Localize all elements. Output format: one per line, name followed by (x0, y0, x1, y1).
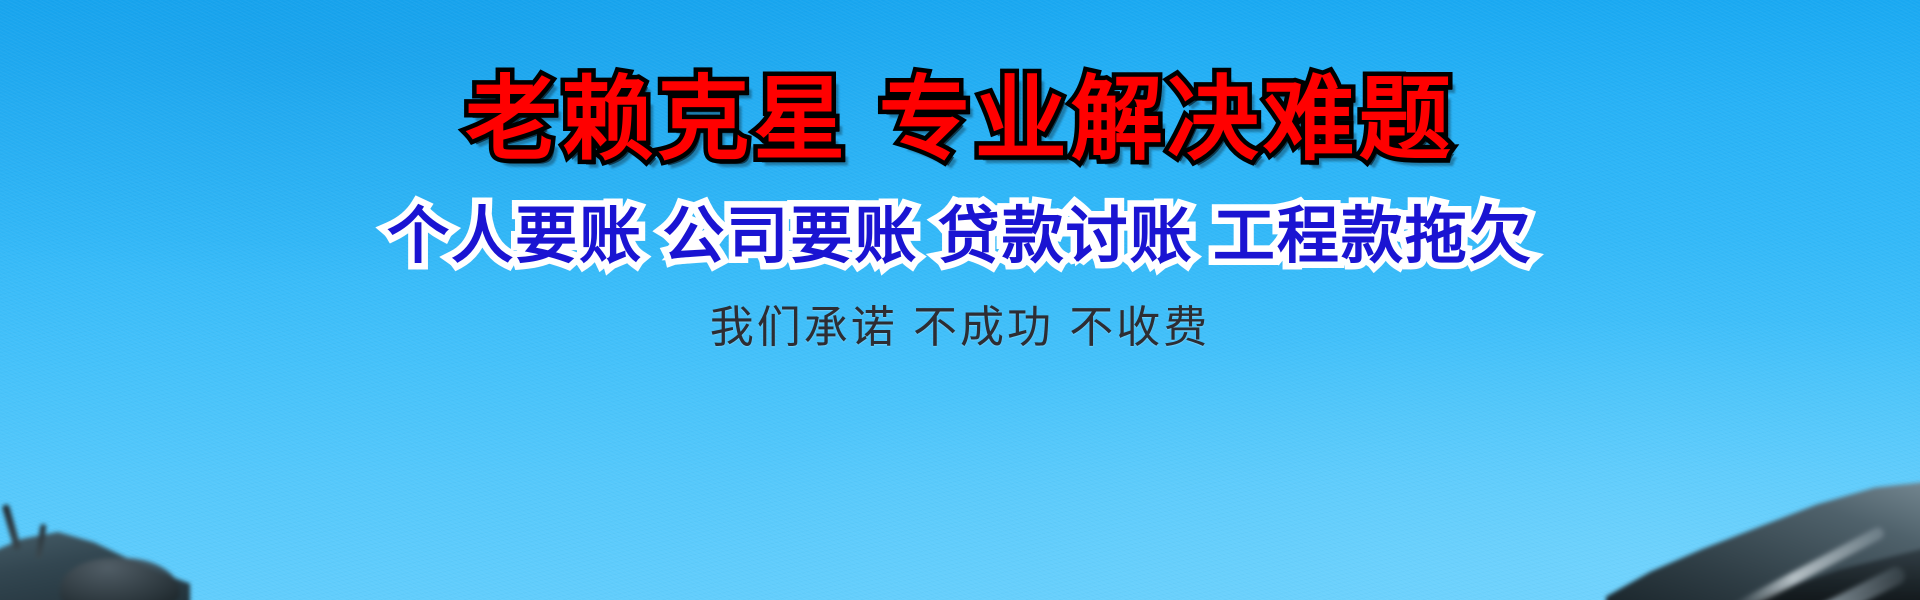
banner-services-line: 个人要账 公司要账 贷款讨账 工程款拖欠 (387, 206, 1533, 268)
banner-headline: 老赖克星 专业解决难题 (465, 74, 1455, 166)
banner-content: 老赖克星 专业解决难题 个人要账 公司要账 贷款讨账 工程款拖欠 我们承诺 不成… (0, 0, 1920, 600)
banner-tagline: 我们承诺 不成功 不收费 (710, 306, 1210, 350)
promo-banner: 老赖克星 专业解决难题 个人要账 公司要账 贷款讨账 工程款拖欠 我们承诺 不成… (0, 0, 1920, 600)
